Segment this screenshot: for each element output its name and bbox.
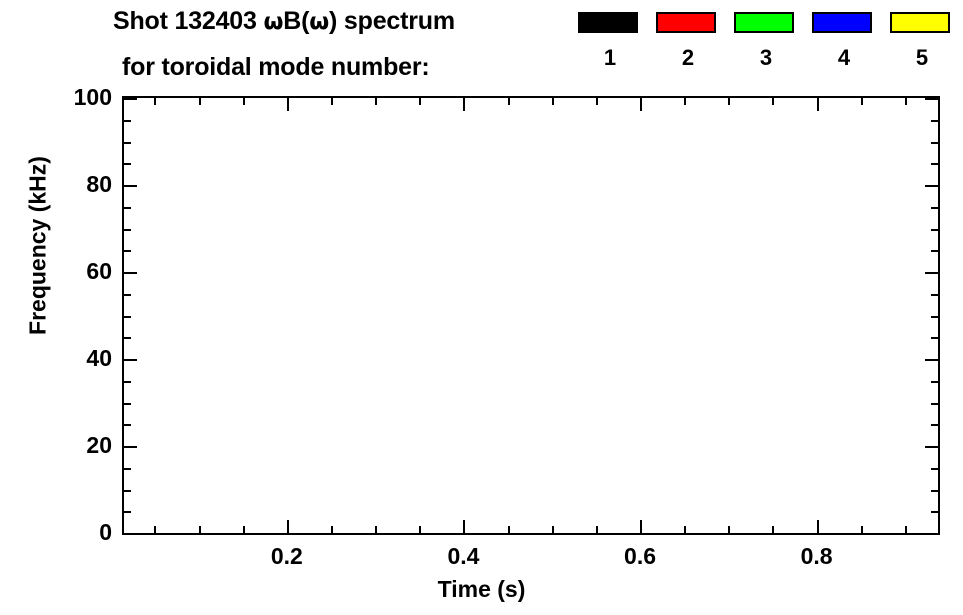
y-tick xyxy=(124,424,131,426)
legend-label-1: 1 xyxy=(578,47,642,69)
x-tick xyxy=(154,526,156,533)
y-tick-label-100: 100 xyxy=(12,84,112,111)
y-tick xyxy=(124,229,131,231)
x-tick-label-0.2: 0.2 xyxy=(242,543,332,570)
x-tick xyxy=(552,98,554,105)
x-tick xyxy=(684,526,686,533)
x-tick xyxy=(817,98,819,111)
legend-item-4[interactable]: 4 xyxy=(812,12,876,69)
y-tick xyxy=(124,337,131,339)
y-tick xyxy=(931,120,938,122)
title-shot-text: Shot 132403 xyxy=(113,7,263,35)
x-tick xyxy=(287,520,289,533)
y-tick xyxy=(931,381,938,383)
x-tick xyxy=(287,98,289,111)
y-tick xyxy=(124,511,131,513)
x-axis-title: Time (s) xyxy=(0,576,963,603)
y-tick-label-20: 20 xyxy=(12,432,112,459)
x-tick xyxy=(728,98,730,105)
plot-frame xyxy=(122,96,940,535)
x-tick xyxy=(640,520,642,533)
y-tick xyxy=(931,207,938,209)
x-tick-label-0.8: 0.8 xyxy=(772,543,862,570)
omega-symbol-1: ω xyxy=(263,9,283,35)
y-tick xyxy=(925,98,938,100)
spectrogram-figure: Shot 132403 ωB(ω) spectrum for toroidal … xyxy=(0,0,963,615)
y-tick xyxy=(124,381,131,383)
x-tick xyxy=(375,98,377,105)
legend-label-4: 4 xyxy=(812,47,876,69)
x-tick xyxy=(331,98,333,105)
y-tick xyxy=(931,468,938,470)
y-tick-label-0: 0 xyxy=(12,519,112,546)
y-tick xyxy=(931,403,938,405)
figure-title-line2: for toroidal mode number: xyxy=(122,53,430,82)
x-tick xyxy=(772,526,774,533)
legend-item-5[interactable]: 5 xyxy=(890,12,954,69)
x-tick xyxy=(905,526,907,533)
x-tick xyxy=(463,98,465,111)
legend-swatch-mode-n3 xyxy=(734,12,794,33)
y-tick xyxy=(124,250,131,252)
x-tick xyxy=(596,526,598,533)
y-tick xyxy=(124,468,131,470)
y-tick xyxy=(925,272,938,274)
y-tick xyxy=(925,185,938,187)
x-tick xyxy=(419,526,421,533)
x-tick xyxy=(331,526,333,533)
x-tick xyxy=(861,98,863,105)
y-tick xyxy=(931,250,938,252)
x-tick xyxy=(640,98,642,111)
y-tick xyxy=(124,316,131,318)
x-tick xyxy=(508,526,510,533)
y-tick xyxy=(931,294,938,296)
x-tick xyxy=(419,98,421,105)
y-tick xyxy=(931,229,938,231)
y-tick xyxy=(124,272,137,274)
x-tick xyxy=(552,526,554,533)
y-tick xyxy=(124,294,131,296)
legend-label-3: 3 xyxy=(734,47,798,69)
legend-swatch-mode-n5 xyxy=(890,12,950,33)
y-tick xyxy=(124,98,137,100)
y-tick xyxy=(931,316,938,318)
y-tick xyxy=(931,511,938,513)
legend-swatch-mode-n2 xyxy=(656,12,716,33)
x-tick-label-0.6: 0.6 xyxy=(595,543,685,570)
x-tick xyxy=(199,526,201,533)
y-tick xyxy=(124,120,131,122)
y-tick-label-40: 40 xyxy=(12,345,112,372)
legend-item-1[interactable]: 1 xyxy=(578,12,642,69)
legend: 12345 xyxy=(578,12,956,82)
y-tick xyxy=(931,163,938,165)
x-tick xyxy=(508,98,510,105)
y-tick xyxy=(925,359,938,361)
y-tick xyxy=(124,142,131,144)
y-tick xyxy=(124,446,137,448)
y-tick xyxy=(124,533,137,535)
x-tick xyxy=(905,98,907,105)
y-tick xyxy=(124,403,131,405)
x-tick xyxy=(154,98,156,105)
legend-label-2: 2 xyxy=(656,47,720,69)
title-spectrum-text: ) spectrum xyxy=(329,7,455,35)
x-tick xyxy=(728,526,730,533)
y-tick xyxy=(925,533,938,535)
y-tick xyxy=(931,424,938,426)
y-tick-label-80: 80 xyxy=(12,171,112,198)
figure-title-line1: Shot 132403 ωB(ω) spectrum xyxy=(113,7,455,36)
x-tick xyxy=(772,98,774,105)
x-tick xyxy=(596,98,598,105)
x-tick xyxy=(243,98,245,105)
x-tick xyxy=(463,520,465,533)
legend-swatch-mode-n4 xyxy=(812,12,872,33)
y-tick xyxy=(925,446,938,448)
y-tick xyxy=(931,337,938,339)
y-tick xyxy=(931,490,938,492)
y-tick xyxy=(124,163,131,165)
legend-item-3[interactable]: 3 xyxy=(734,12,798,69)
legend-label-5: 5 xyxy=(890,47,954,69)
x-tick-label-0.4: 0.4 xyxy=(418,543,508,570)
title-b-text: B( xyxy=(283,7,309,35)
x-tick xyxy=(684,98,686,105)
x-tick xyxy=(199,98,201,105)
x-tick xyxy=(861,526,863,533)
x-tick xyxy=(375,526,377,533)
y-tick xyxy=(124,185,137,187)
legend-item-2[interactable]: 2 xyxy=(656,12,720,69)
x-tick xyxy=(817,520,819,533)
y-tick-label-60: 60 xyxy=(12,258,112,285)
legend-swatch-mode-n1 xyxy=(578,12,638,33)
y-tick xyxy=(124,207,131,209)
y-tick xyxy=(931,142,938,144)
x-tick xyxy=(243,526,245,533)
y-tick xyxy=(124,490,131,492)
omega-symbol-2: ω xyxy=(309,9,329,35)
y-tick xyxy=(124,359,137,361)
